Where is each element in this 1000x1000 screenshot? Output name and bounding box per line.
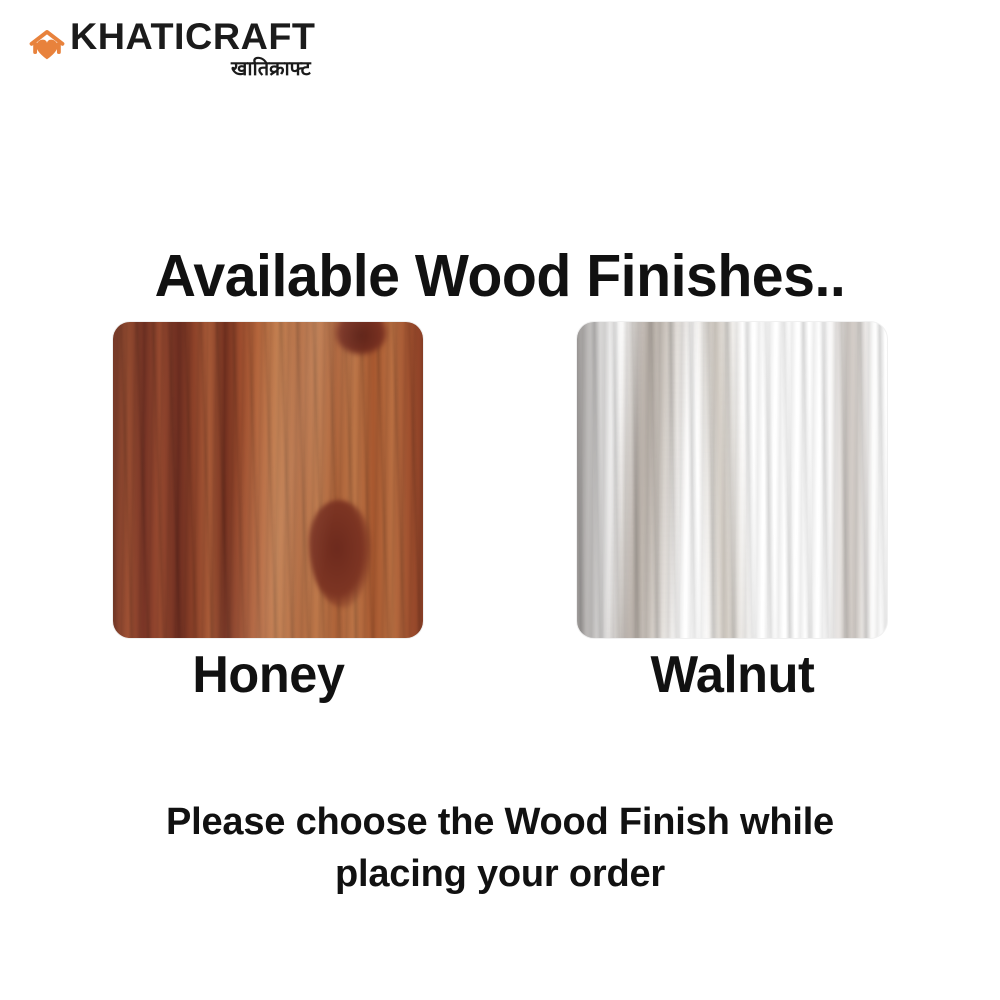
finish-label-honey: Honey [192,648,344,703]
instruction-note: Please choose the Wood Finish while plac… [140,796,860,901]
wood-finish-options: Honey Walnut [0,322,1000,703]
house-heart-icon [28,26,66,64]
instruction-note-line-1: Please choose the Wood Finish while [140,796,860,848]
finish-label-walnut: Walnut [650,648,814,703]
honey-sheen [113,322,423,638]
instruction-note-line-2: placing your order [140,848,860,900]
honey-wood-swatch[interactable] [113,322,423,638]
page-title: Available Wood Finishes.. [15,246,985,308]
finish-option-walnut[interactable]: Walnut [577,322,887,703]
walnut-wood-swatch[interactable] [577,322,887,638]
walnut-sheen [577,322,887,638]
finish-option-honey[interactable]: Honey [113,322,423,703]
brand-logo: KHATICRAFT खातिक्राफ्ट [28,18,311,78]
brand-name-devanagari: खातिक्राफ्ट [231,58,311,78]
brand-name: KHATICRAFT [70,18,315,55]
